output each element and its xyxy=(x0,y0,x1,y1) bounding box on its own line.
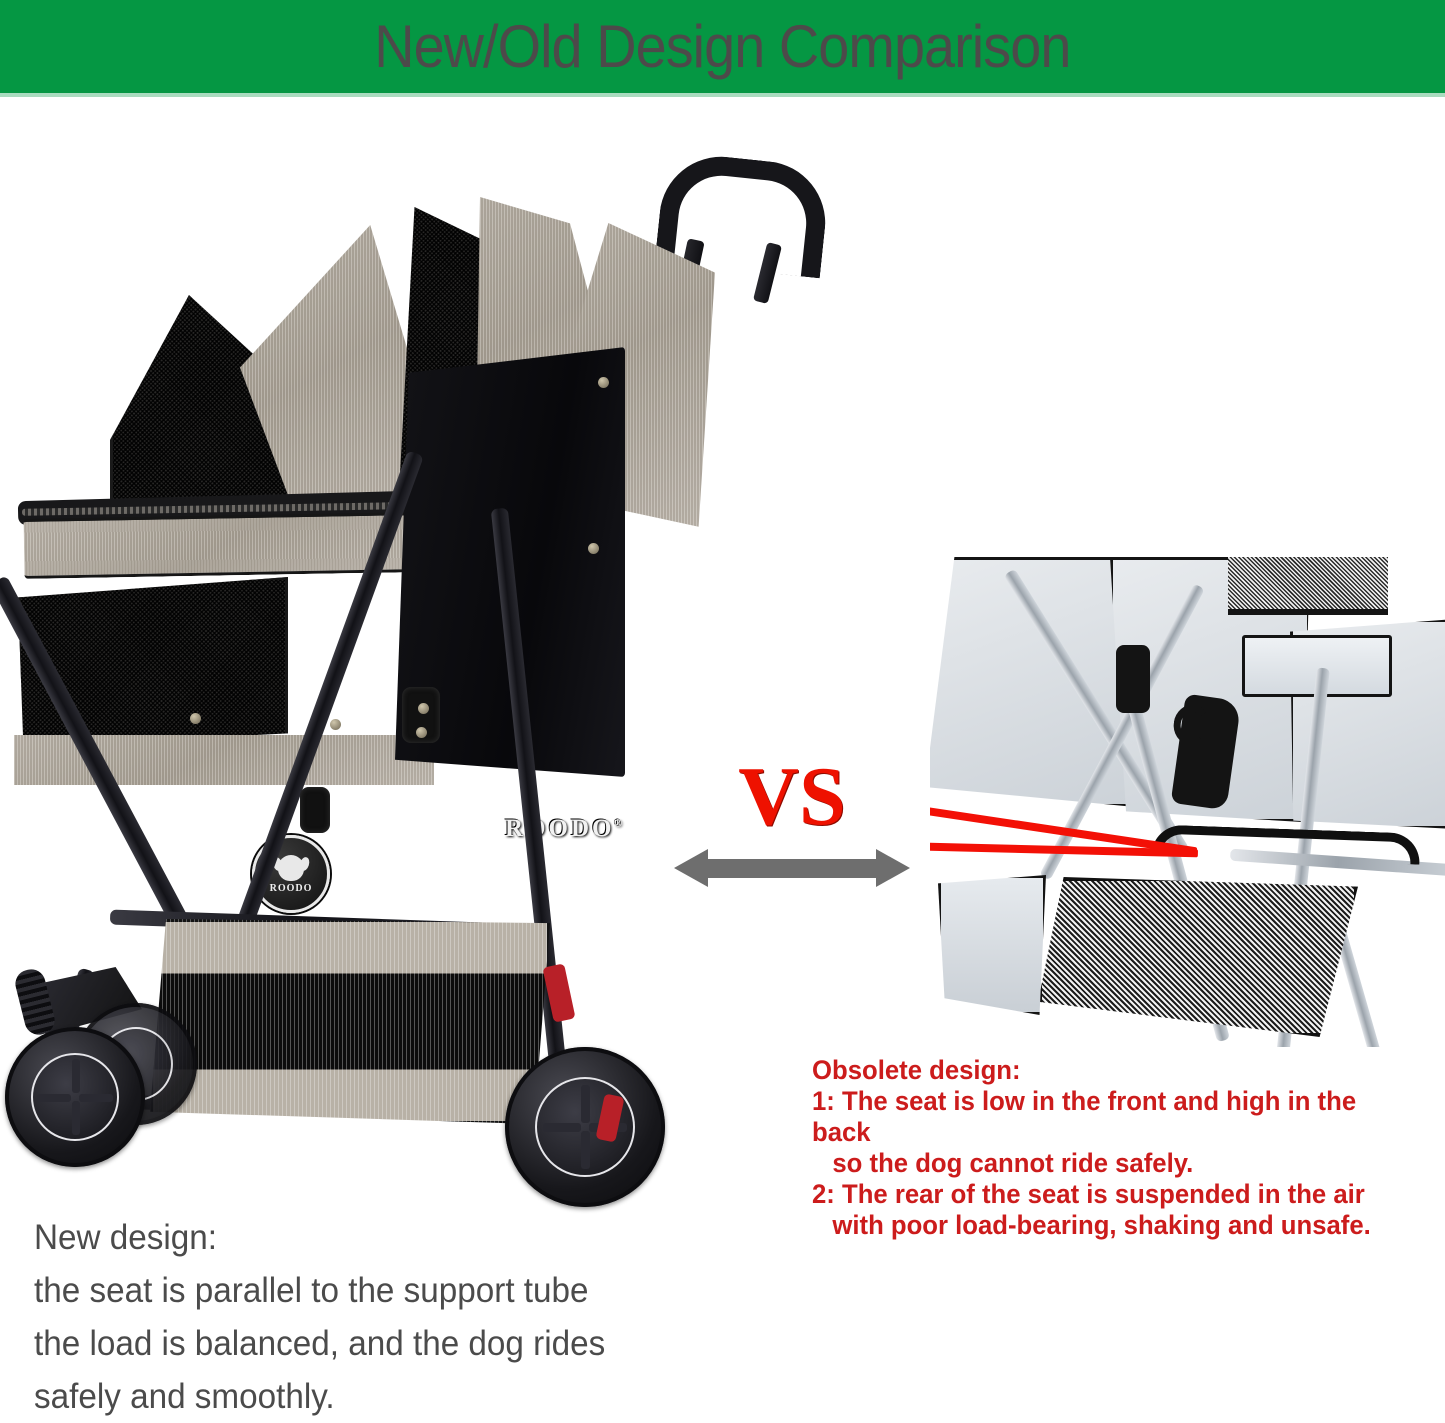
arrow-left-head-icon xyxy=(674,849,708,887)
rivet-4 xyxy=(598,377,609,388)
rivet-6 xyxy=(330,719,341,730)
rear-wheel xyxy=(505,1047,665,1207)
rivet-1 xyxy=(418,703,429,714)
spoke xyxy=(543,1123,581,1132)
header-banner: New/Old Design Comparison xyxy=(0,0,1445,93)
rear-wheel-hub xyxy=(535,1077,635,1177)
new-caption-heading: New design: xyxy=(34,1211,756,1264)
rivet-3 xyxy=(588,543,599,554)
registered-mark: ® xyxy=(614,819,624,830)
versus-indicator: VS xyxy=(672,755,912,905)
obsolete-caption-heading: Obsolete design: xyxy=(812,1055,1418,1086)
obsolete-point-1-line-1: 1: The seat is low in the front and high… xyxy=(812,1086,1418,1148)
inset-mesh-panel xyxy=(1228,557,1388,615)
arrow-shaft-icon xyxy=(706,859,878,878)
spoke xyxy=(37,1094,71,1102)
arrow-right-head-icon xyxy=(876,849,910,887)
front-wheel xyxy=(5,1027,145,1167)
inset-lower-pocket xyxy=(938,875,1046,1015)
dog-silhouette-icon xyxy=(278,855,304,881)
spoke xyxy=(72,1101,80,1135)
new-caption-line-1: the seat is parallel to the support tube xyxy=(34,1264,756,1317)
spoke xyxy=(581,1085,590,1123)
obsolete-design-caption: Obsolete design: 1: The seat is low in t… xyxy=(812,1055,1418,1241)
front-mesh-window xyxy=(18,577,288,747)
basket-mesh-overlay xyxy=(150,919,550,1124)
badge-label: ROODO xyxy=(270,883,313,894)
new-caption-line-3: safely and smoothly. xyxy=(34,1370,756,1423)
rivet-2 xyxy=(416,727,427,738)
spoke xyxy=(79,1094,113,1102)
vs-label: VS xyxy=(672,755,912,839)
new-design-stroller-image: ROODO® ROODO xyxy=(0,147,720,1167)
new-caption-line-2: the load is balanced, and the dog rides xyxy=(34,1317,756,1370)
spoke xyxy=(72,1059,80,1093)
inset-storage-basket xyxy=(1038,877,1358,1037)
front-wheel-hub xyxy=(31,1053,119,1141)
inset-frame-joint xyxy=(1116,645,1150,713)
obsolete-point-1-line-2: so the dog cannot ride safely. xyxy=(812,1148,1418,1179)
obsolete-design-stroller-image xyxy=(930,557,1445,1047)
page-title: New/Old Design Comparison xyxy=(374,12,1070,81)
obsolete-point-2-line-1: 2: The rear of the seat is suspended in … xyxy=(812,1179,1418,1210)
new-design-caption: New design: the seat is parallel to the … xyxy=(34,1211,756,1423)
spoke xyxy=(581,1131,590,1169)
comparison-stage: ROODO® ROODO xyxy=(0,97,1445,1402)
rivet-5 xyxy=(190,713,201,724)
inset-seat-bar xyxy=(1152,824,1421,864)
roodo-wordmark-text: ROODO xyxy=(505,815,614,842)
frame-joint-mid xyxy=(300,787,330,833)
obsolete-point-2-line-2: with poor load-bearing, shaking and unsa… xyxy=(812,1210,1418,1241)
